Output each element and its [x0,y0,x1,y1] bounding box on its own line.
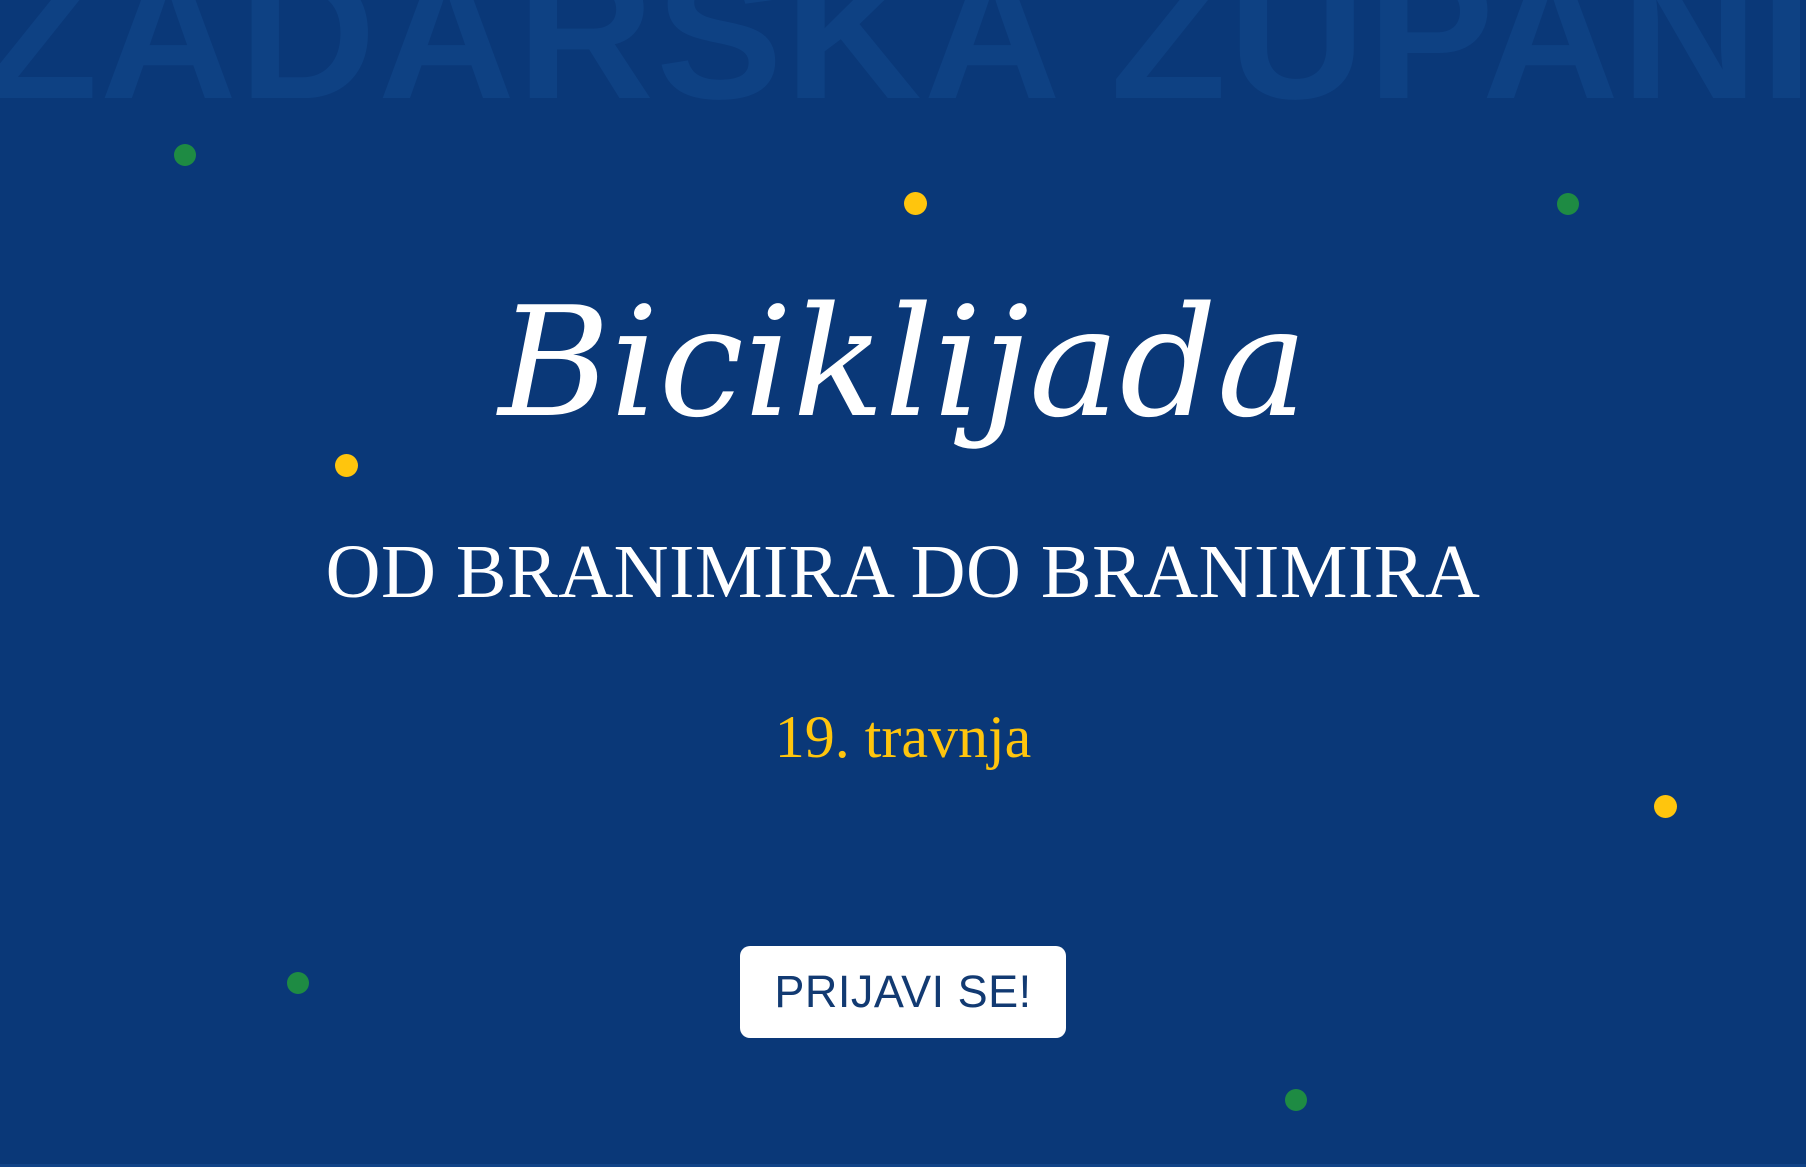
poster-banner: ZADARSKA ŽUPANIJA Biciklijada OD BRANIMI… [0,0,1806,1167]
hero-content: Biciklijada OD BRANIMIRA DO BRANIMIRA 19… [0,0,1806,1167]
signup-button[interactable]: PRIJAVI SE! [740,946,1065,1038]
cta-container: PRIJAVI SE! [0,946,1806,1038]
page-title: Biciklijada [0,287,1806,439]
event-date: 19. travnja [0,707,1806,767]
hero-subtitle: OD BRANIMIRA DO BRANIMIRA [0,534,1806,610]
